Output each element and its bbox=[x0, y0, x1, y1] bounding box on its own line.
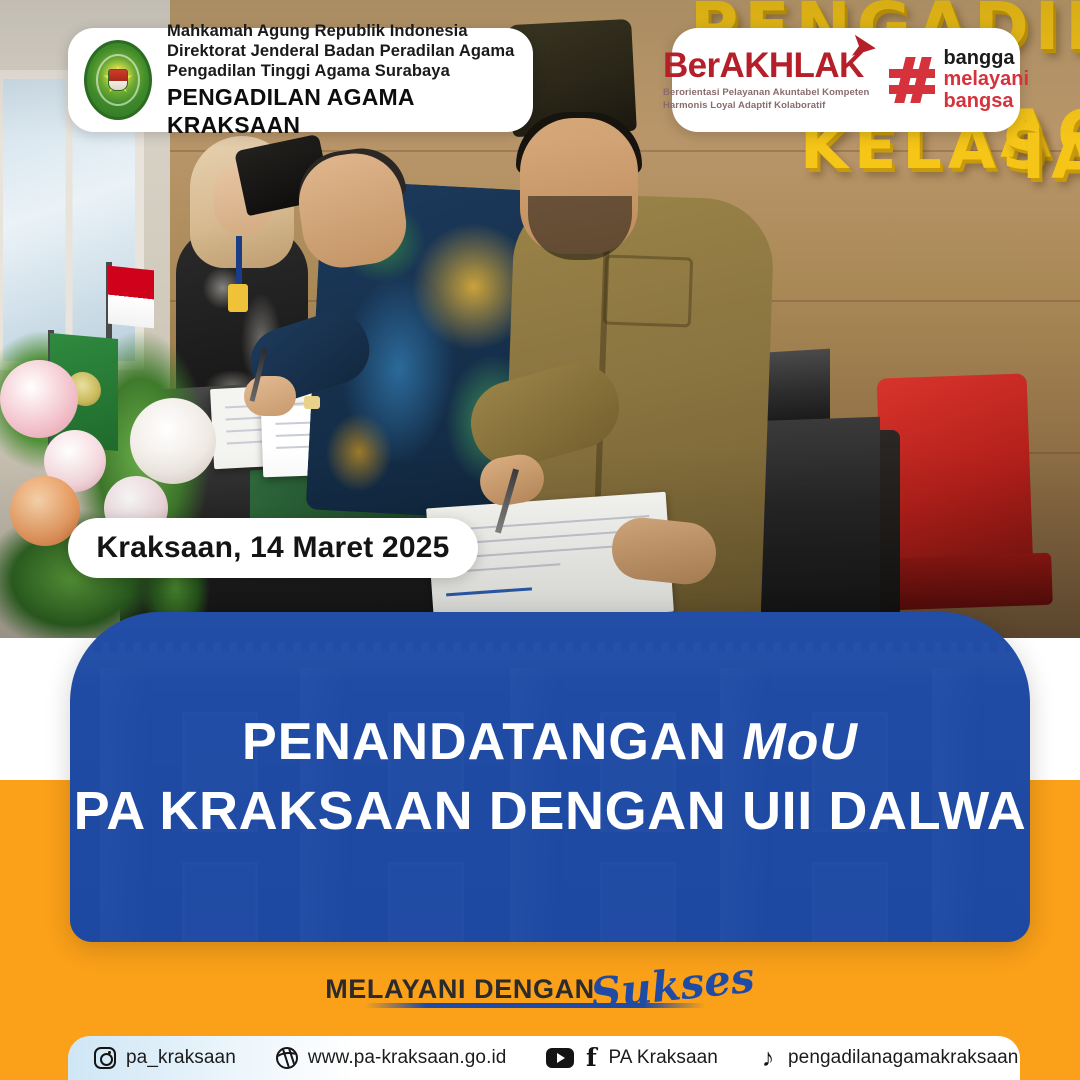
photo-flower bbox=[0, 360, 78, 438]
website-url[interactable]: www.pa-kraksaan.go.id bbox=[308, 1047, 507, 1069]
title-line-1-emphasis: MoU bbox=[742, 713, 858, 771]
photo-indonesia-flag bbox=[108, 266, 154, 329]
bangga-text-block: bangga melayani bangsa bbox=[943, 48, 1029, 112]
photo-flower bbox=[130, 398, 216, 484]
berakhlak-subtitle-2: Harmonis Loyal Adaptif Kolaboratif bbox=[663, 100, 869, 112]
tiktok-handle[interactable]: pengadilanagamakraksaan bbox=[788, 1047, 1018, 1069]
tagline: MELAYANI DENGANSukses bbox=[0, 958, 1080, 1020]
poster-canvas: PENGADILAN AGAMA KELAS IA bbox=[0, 0, 1080, 1080]
institution-line-4: PENGADILAN AGAMA KRAKSAAN bbox=[167, 83, 533, 139]
hashtag-icon bbox=[889, 57, 935, 103]
institution-line-2: Direktorat Jenderal Badan Peradilan Agam… bbox=[167, 41, 533, 61]
institution-line-3: Pengadilan Tinggi Agama Surabaya bbox=[167, 61, 533, 81]
tiktok-icon[interactable]: ♪ bbox=[758, 1047, 778, 1070]
institution-name-block: Mahkamah Agung Republik Indonesia Direkt… bbox=[167, 21, 533, 139]
court-emblem-icon bbox=[84, 40, 152, 120]
bangga-melayani-bangsa-logo: bangga melayani bangsa bbox=[889, 48, 1029, 112]
berakhlak-branding: BerAKHLAK ➤ Berorientasi Pelayanan Akunt… bbox=[672, 28, 1020, 132]
berakhlak-logo: BerAKHLAK ➤ Berorientasi Pelayanan Akunt… bbox=[663, 48, 869, 111]
title-line-1: PENANDATANGAN MoU bbox=[242, 712, 858, 772]
tagline-main-text: MELAYANI DENGAN bbox=[325, 974, 595, 1005]
social-media-footer: pa_kraksaan www.pa-kraksaan.go.id f PA K… bbox=[68, 1036, 1020, 1080]
photo-person-khaki-pocket bbox=[603, 254, 693, 327]
instagram-handle[interactable]: pa_kraksaan bbox=[126, 1047, 236, 1069]
tagline-underline bbox=[365, 1003, 705, 1008]
youtube-icon[interactable] bbox=[546, 1048, 574, 1068]
globe-icon[interactable] bbox=[276, 1047, 298, 1069]
photo-id-badge bbox=[228, 284, 248, 312]
bangga-line-2: melayani bbox=[943, 69, 1029, 90]
emblem-shield-shape bbox=[108, 69, 128, 91]
title-line-1-plain: PENANDATANGAN bbox=[242, 713, 742, 771]
tagline-script-text: Sukses bbox=[588, 952, 756, 1018]
berakhlak-title-prefix: Ber bbox=[663, 46, 720, 85]
title-panel: PENANDATANGAN MoU PA KRAKSAAN DENGAN UII… bbox=[70, 612, 1030, 942]
bangga-line-3: bangsa bbox=[943, 91, 1029, 112]
berakhlak-subtitle-1: Berorientasi Pelayanan Akuntabel Kompete… bbox=[663, 87, 869, 99]
footer-item-tiktok[interactable]: ♪ pengadilanagamakraksaan bbox=[758, 1047, 1018, 1070]
berakhlak-title: BerAKHLAK ➤ bbox=[663, 48, 869, 83]
facebook-icon[interactable]: f bbox=[584, 1047, 598, 1070]
date-badge: Kraksaan, 14 Maret 2025 bbox=[68, 518, 478, 578]
institution-line-1: Mahkamah Agung Republik Indonesia bbox=[167, 21, 533, 41]
institution-header: Mahkamah Agung Republik Indonesia Direkt… bbox=[68, 28, 533, 132]
date-badge-text: Kraksaan, 14 Maret 2025 bbox=[96, 531, 449, 565]
photo-ring bbox=[304, 396, 320, 409]
photo-red-chair-back bbox=[877, 373, 1034, 578]
footer-item-instagram[interactable]: pa_kraksaan bbox=[94, 1047, 236, 1069]
footer-item-youtube-facebook[interactable]: f PA Kraksaan bbox=[546, 1047, 718, 1070]
panel-text-block: PENANDATANGAN MoU PA KRAKSAAN DENGAN UII… bbox=[70, 612, 1030, 942]
instagram-icon[interactable] bbox=[94, 1047, 116, 1069]
swoosh-icon: ➤ bbox=[849, 31, 877, 64]
berakhlak-title-suffix: AKHLAK bbox=[720, 46, 864, 85]
bangga-line-1: bangga bbox=[943, 48, 1029, 69]
youtube-facebook-handle[interactable]: PA Kraksaan bbox=[608, 1047, 718, 1069]
photo-lanyard bbox=[236, 236, 242, 288]
footer-item-website[interactable]: www.pa-kraksaan.go.id bbox=[276, 1047, 507, 1069]
title-line-2: PA KRAKSAAN DENGAN UII DALWA bbox=[74, 780, 1027, 842]
